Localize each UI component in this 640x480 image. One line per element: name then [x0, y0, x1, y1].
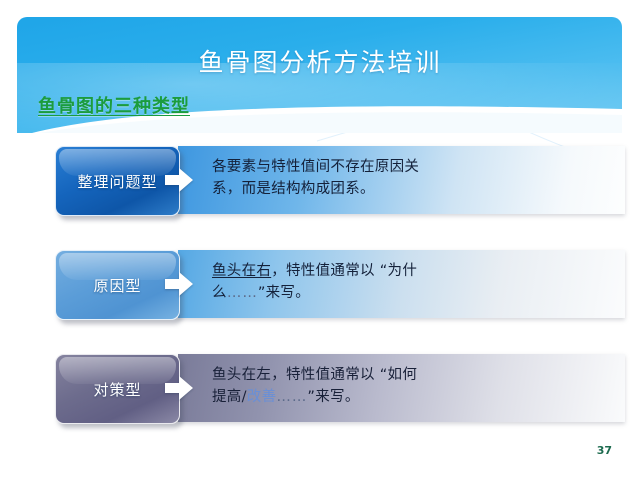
arrow-right-icon — [165, 375, 193, 401]
list-item: 各要素与特性值间不存在原因关 系，而是结构构成团系。 整理问题型 — [55, 146, 625, 214]
row1-line1: 各要素与特性值间不存在原因关 — [212, 159, 419, 175]
list-item: 鱼头在左，特性值通常以 “如何 提高/改善……”来写。 对策型 — [55, 354, 625, 422]
row3-accent-phrase: 改善 — [247, 389, 277, 405]
row2-line2-b: ”来写。 — [258, 285, 310, 301]
page-number: 37 — [597, 444, 612, 457]
row-label-box[interactable]: 整理问题型 — [55, 146, 180, 216]
row-label-text: 整理问题型 — [77, 171, 157, 192]
arrow-right-icon — [165, 167, 193, 193]
row2-line2-dots: …… — [227, 285, 258, 301]
row2-line1-rest: ，特性值通常以 “为什 — [271, 263, 417, 279]
row-description-text: 鱼头在左，特性值通常以 “如何 提高/改善……”来写。 — [212, 364, 512, 408]
row-label-box[interactable]: 原因型 — [55, 250, 180, 320]
list-item: 鱼头在右，特性值通常以 “为什 么……”来写。 原因型 — [55, 250, 625, 318]
row-description-text: 鱼头在右，特性值通常以 “为什 么……”来写。 — [212, 260, 512, 304]
row3-line2-a: 提高/ — [212, 389, 247, 405]
row-description-panel: 各要素与特性值间不存在原因关 系，而是结构构成团系。 — [178, 146, 625, 214]
row-label-box[interactable]: 对策型 — [55, 354, 180, 424]
row1-line2: 系，而是结构构成团系。 — [212, 181, 375, 197]
row3-line2-b: ”来写。 — [307, 389, 359, 405]
row-description-panel: 鱼头在左，特性值通常以 “如何 提高/改善……”来写。 — [178, 354, 625, 422]
slide-canvas: 鱼骨图分析方法培训 鱼骨图的三种类型 各要素与特性值间不存在原因关 系，而是结构… — [0, 0, 640, 480]
row-label-text: 对策型 — [93, 379, 141, 400]
section-subtitle: 鱼骨图的三种类型 — [38, 92, 190, 118]
row3-line2-dots: …… — [276, 389, 307, 405]
arrow-right-icon — [165, 271, 193, 297]
row-description-panel: 鱼头在右，特性值通常以 “为什 么……”来写。 — [178, 250, 625, 318]
row2-underlined-phrase: 鱼头在右 — [212, 263, 271, 279]
row2-line2-a: 么 — [212, 285, 227, 301]
row-label-text: 原因型 — [93, 275, 141, 296]
row-description-text: 各要素与特性值间不存在原因关 系，而是结构构成团系。 — [212, 156, 512, 200]
row3-line1: 鱼头在左，特性值通常以 “如何 — [212, 367, 417, 383]
page-title: 鱼骨图分析方法培训 — [0, 46, 640, 80]
